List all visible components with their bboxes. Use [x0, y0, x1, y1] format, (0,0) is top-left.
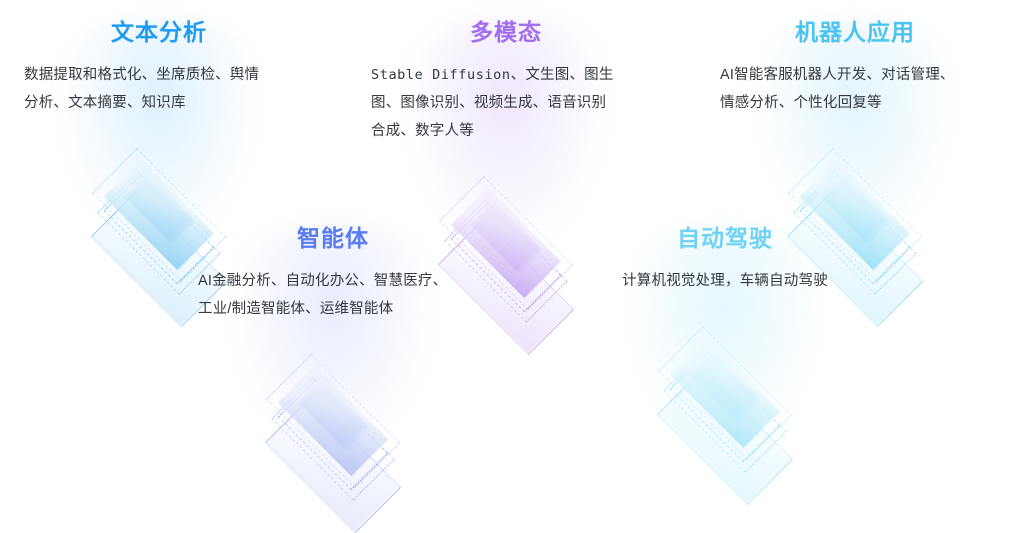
feature-description-line: Stable Diffusion、文生图、图生: [371, 61, 641, 89]
feature-description-line: 数据提取和格式化、坐席质检、舆情: [24, 61, 294, 89]
feature-description: 数据提取和格式化、坐席质检、舆情分析、文本摘要、知识库: [24, 61, 294, 118]
feature-description-line: 合成、数字人等: [371, 117, 641, 145]
feature-text-agent: 智能体AI金融分析、自动化办公、智慧医疗、工业/制造智能体、运维智能体: [168, 224, 498, 323]
feature-title: 多模态: [341, 18, 671, 47]
feature-text-multimodal: 多模态Stable Diffusion、文生图、图生图、图像识别、视频生成、语音…: [341, 18, 671, 146]
feature-title: 智能体: [168, 224, 498, 253]
feature-text-text-analysis: 文本分析数据提取和格式化、坐席质检、舆情分析、文本摘要、知识库: [0, 18, 324, 117]
feature-description-line: AI金融分析、自动化办公、智慧医疗、: [198, 267, 468, 295]
feature-title: 机器人应用: [690, 18, 1015, 47]
feature-description-line: 分析、文本摘要、知识库: [24, 89, 294, 117]
feature-title: 自动驾驶: [560, 224, 890, 253]
features-diagram: 文本分析数据提取和格式化、坐席质检、舆情分析、文本摘要、知识库多模态Stable…: [0, 0, 1015, 456]
feature-description: AI金融分析、自动化办公、智慧医疗、工业/制造智能体、运维智能体: [198, 267, 468, 324]
isometric-platform: [183, 334, 483, 504]
feature-text-autonomous-driving: 自动驾驶计算机视觉处理，车辆自动驾驶: [560, 224, 890, 295]
feature-description: 计算机视觉处理，车辆自动驾驶: [575, 267, 875, 295]
feature-description-line: 工业/制造智能体、运维智能体: [198, 295, 468, 323]
feature-description: AI智能客服机器人开发、对话管理、情感分析、个性化回复等: [720, 61, 990, 118]
feature-description-line: 计算机视觉处理，车辆自动驾驶: [575, 267, 875, 295]
mono-term: Stable Diffusion: [371, 67, 511, 83]
feature-description: Stable Diffusion、文生图、图生图、图像识别、视频生成、语音识别合…: [371, 61, 641, 146]
feature-card-autonomous-driving: 自动驾驶计算机视觉处理，车辆自动驾驶: [560, 224, 890, 524]
feature-description-line: AI智能客服机器人开发、对话管理、: [720, 61, 990, 89]
feature-card-agent: 智能体AI金融分析、自动化办公、智慧医疗、工业/制造智能体、运维智能体: [168, 224, 498, 524]
feature-description-line: 图、图像识别、视频生成、语音识别: [371, 89, 641, 117]
feature-text-robot-application: 机器人应用AI智能客服机器人开发、对话管理、情感分析、个性化回复等: [690, 18, 1015, 117]
isometric-platform: [575, 306, 875, 476]
feature-title: 文本分析: [0, 18, 324, 47]
feature-description-line: 情感分析、个性化回复等: [720, 89, 990, 117]
